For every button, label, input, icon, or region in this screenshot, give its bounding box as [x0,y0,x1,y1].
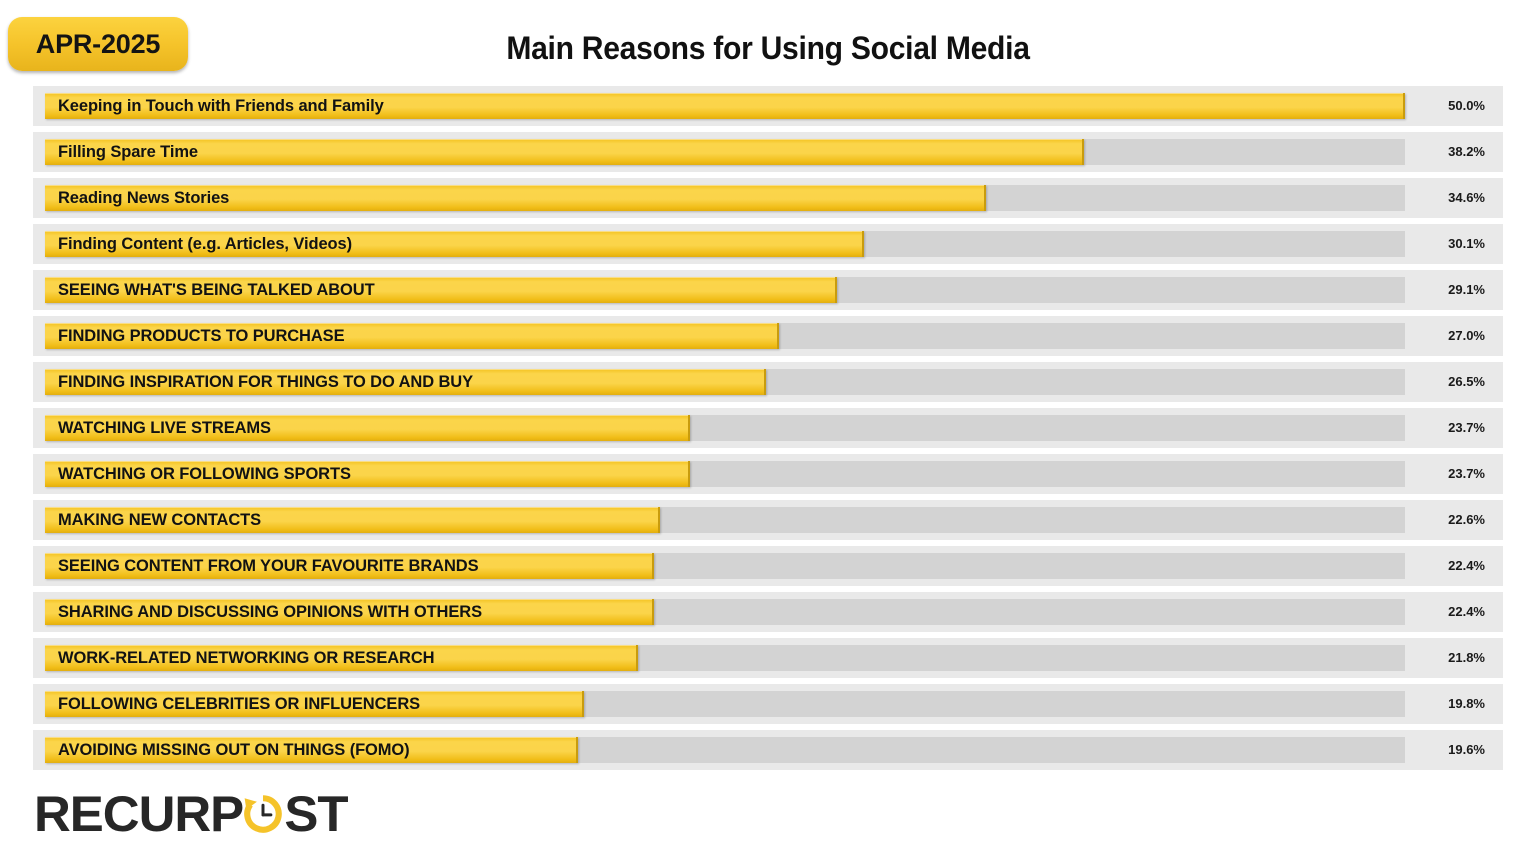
bar-value-label: 23.7% [1448,408,1485,448]
bar-chart: Keeping in Touch with Friends and Family… [0,86,1536,780]
bar-row: FINDING PRODUCTS TO PURCHASE27.0% [33,316,1503,356]
bar-category-label: FINDING PRODUCTS TO PURCHASE [58,316,344,356]
logo-text-last: ST [285,785,348,843]
bar-category-label: Finding Content (e.g. Articles, Videos) [58,224,352,264]
bar-row: FOLLOWING CELEBRITIES OR INFLUENCERS19.8… [33,684,1503,724]
bar-row: SHARING AND DISCUSSING OPINIONS WITH OTH… [33,592,1503,632]
page-title: Main Reasons for Using Social Media [46,30,1490,67]
bar-value-label: 27.0% [1448,316,1485,356]
bar-row: FINDING INSPIRATION FOR THINGS TO DO AND… [33,362,1503,402]
bar-category-label: SEEING CONTENT FROM YOUR FAVOURITE BRAND… [58,546,479,586]
bar-value-label: 21.8% [1448,638,1485,678]
bar-row: SEEING CONTENT FROM YOUR FAVOURITE BRAND… [33,546,1503,586]
recurpost-logo: RECURP ST [36,786,347,842]
bar-track [45,185,1405,211]
bar-value-label: 22.4% [1448,546,1485,586]
bar-fill [45,139,1084,165]
bar-value-label: 22.4% [1448,592,1485,632]
logo-text-first: RECURP [34,785,243,843]
bar-row: Filling Spare Time38.2% [33,132,1503,172]
bar-track [45,139,1405,165]
bar-value-label: 38.2% [1448,132,1485,172]
bar-category-label: MAKING NEW CONTACTS [58,500,261,540]
bar-category-label: Reading News Stories [58,178,229,218]
bar-category-label: SEEING WHAT'S BEING TALKED ABOUT [58,270,375,310]
bar-category-label: AVOIDING MISSING OUT ON THINGS (FOMO) [58,730,410,770]
bar-value-label: 19.8% [1448,684,1485,724]
bar-category-label: SHARING AND DISCUSSING OPINIONS WITH OTH… [58,592,482,632]
bar-row: WATCHING LIVE STREAMS23.7% [33,408,1503,448]
bar-row: WORK-RELATED NETWORKING OR RESEARCH21.8% [33,638,1503,678]
bar-category-label: WORK-RELATED NETWORKING OR RESEARCH [58,638,434,678]
bar-category-label: FOLLOWING CELEBRITIES OR INFLUENCERS [58,684,420,724]
chart-header: APR-2025 Main Reasons for Using Social M… [0,0,1536,86]
bar-value-label: 50.0% [1448,86,1485,126]
bar-row: AVOIDING MISSING OUT ON THINGS (FOMO)19.… [33,730,1503,770]
bar-row: SEEING WHAT'S BEING TALKED ABOUT29.1% [33,270,1503,310]
bar-value-label: 34.6% [1448,178,1485,218]
bar-value-label: 22.6% [1448,500,1485,540]
clock-refresh-icon [242,793,284,835]
bar-value-label: 30.1% [1448,224,1485,264]
chart-footer: RECURP ST [0,780,1536,864]
bar-category-label: WATCHING LIVE STREAMS [58,408,271,448]
bar-category-label: FINDING INSPIRATION FOR THINGS TO DO AND… [58,362,473,402]
bar-category-label: WATCHING OR FOLLOWING SPORTS [58,454,351,494]
bar-category-label: Keeping in Touch with Friends and Family [58,86,384,126]
bar-row: Keeping in Touch with Friends and Family… [33,86,1503,126]
bar-value-label: 26.5% [1448,362,1485,402]
bar-row: MAKING NEW CONTACTS22.6% [33,500,1503,540]
bar-value-label: 29.1% [1448,270,1485,310]
bar-row: Reading News Stories34.6% [33,178,1503,218]
bar-category-label: Filling Spare Time [58,132,198,172]
bar-row: Finding Content (e.g. Articles, Videos)3… [33,224,1503,264]
bar-row: WATCHING OR FOLLOWING SPORTS23.7% [33,454,1503,494]
bar-value-label: 23.7% [1448,454,1485,494]
bar-value-label: 19.6% [1448,730,1485,770]
